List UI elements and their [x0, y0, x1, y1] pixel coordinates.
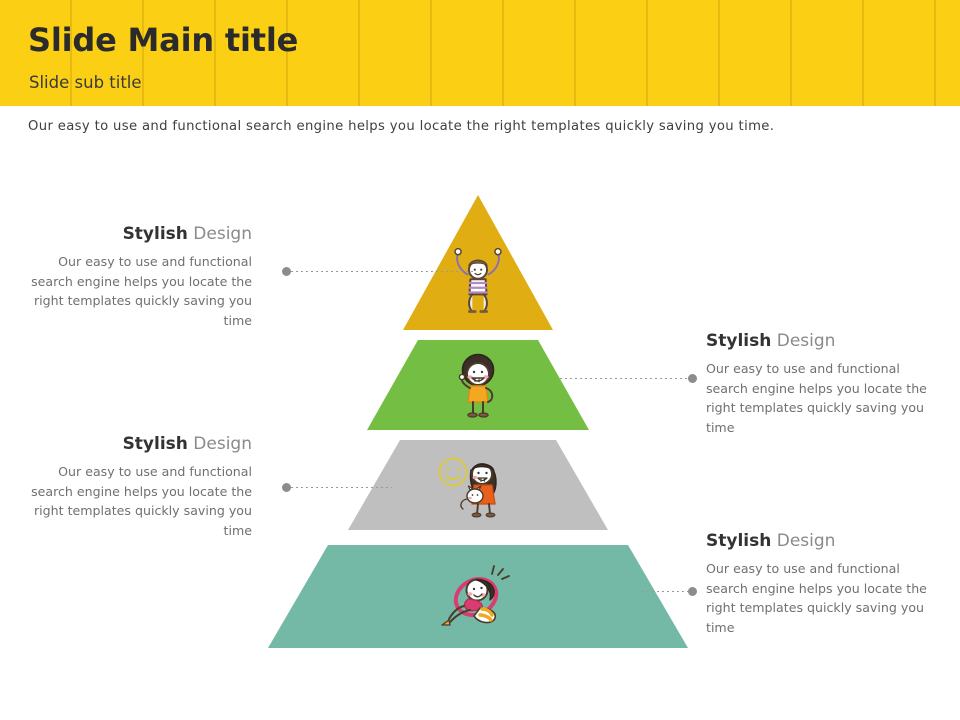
- callout-top-left-body: Our easy to use and functional search en…: [20, 252, 252, 330]
- callout-top-left-title-rest: Design: [188, 224, 252, 244]
- connector-dash-level-2: [560, 378, 688, 379]
- intro-paragraph: Our easy to use and functional search en…: [28, 119, 774, 134]
- callout-upper-right-title-bold: Stylish: [706, 331, 771, 351]
- callout-upper-right-body: Our easy to use and functional search en…: [706, 359, 938, 437]
- callout-bottom-right-title: Stylish Design: [706, 531, 938, 552]
- kid-arms-up-icon: [455, 249, 501, 312]
- callout-upper-right-title: Stylish Design: [706, 331, 938, 352]
- callout-bottom-right-body: Our easy to use and functional search en…: [706, 559, 938, 637]
- callout-top-left-title-bold: Stylish: [123, 224, 188, 244]
- connector-dash-level-1: [291, 271, 475, 272]
- connector-dot-level-1: [282, 267, 291, 276]
- page-title: Slide Main title: [28, 22, 298, 59]
- callout-lower-left: Stylish Design Our easy to use and funct…: [20, 434, 252, 540]
- connector-dot-level-2: [688, 374, 697, 383]
- connector-dash-level-4: [642, 591, 688, 592]
- smiley-face-icon: [440, 459, 467, 486]
- connector-dot-level-4: [688, 587, 697, 596]
- header-banner: Slide Main title Slide sub title: [0, 0, 960, 106]
- connector-line-level-2: [560, 374, 697, 383]
- connector-line-level-1: [282, 267, 475, 276]
- page-subtitle: Slide sub title: [29, 74, 142, 92]
- callout-top-left-title: Stylish Design: [20, 224, 252, 245]
- callout-top-left: Stylish Design Our easy to use and funct…: [20, 224, 252, 330]
- callout-bottom-right-title-bold: Stylish: [706, 531, 771, 551]
- callout-bottom-right: Stylish Design Our easy to use and funct…: [706, 531, 938, 637]
- connector-line-level-3: [282, 483, 392, 492]
- callout-upper-right-title-rest: Design: [771, 331, 835, 351]
- connector-dot-level-3: [282, 483, 291, 492]
- callout-upper-right: Stylish Design Our easy to use and funct…: [706, 331, 938, 437]
- callout-bottom-right-title-rest: Design: [771, 531, 835, 551]
- callout-lower-left-body: Our easy to use and functional search en…: [20, 462, 252, 540]
- connector-line-level-4: [642, 587, 697, 596]
- callout-lower-left-title-rest: Design: [188, 434, 252, 454]
- girl-reclining-icon: [442, 566, 509, 625]
- pyramid-level-2-shape: [367, 340, 589, 430]
- kid-waving-icon: [459, 355, 493, 418]
- callout-lower-left-title-bold: Stylish: [123, 434, 188, 454]
- pyramid-level-4-shape: [268, 545, 688, 648]
- connector-dash-level-3: [291, 487, 392, 488]
- pyramid-level-1-shape: [403, 195, 553, 330]
- girl-with-cat-icon: [461, 464, 496, 517]
- callout-lower-left-title: Stylish Design: [20, 434, 252, 455]
